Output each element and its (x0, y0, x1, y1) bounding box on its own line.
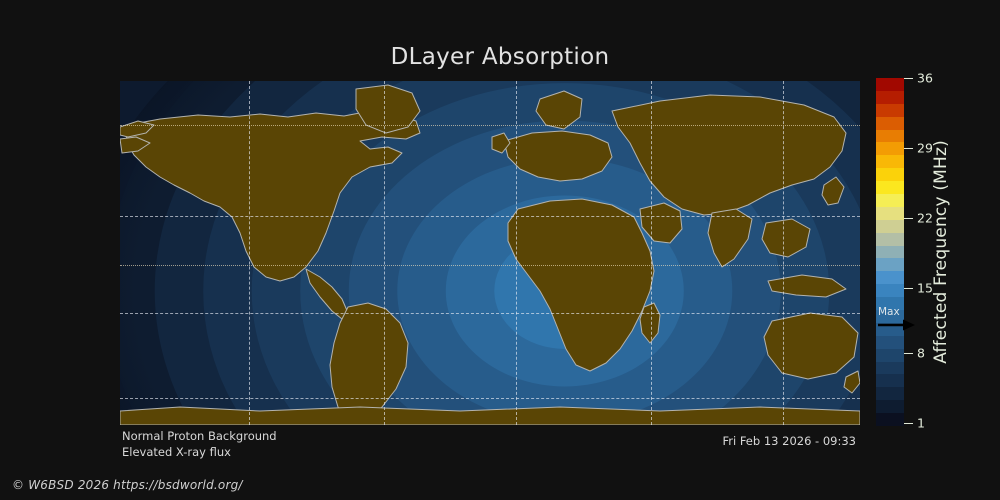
colorbar-band-16 (876, 207, 904, 220)
colorbar-tick-22 (904, 218, 913, 219)
colorbar-axis-label: Affected Frequency (MHz) (929, 78, 953, 426)
colorbar-band-6 (876, 336, 904, 349)
landmass-north-america (126, 111, 420, 281)
colorbar-band-25 (876, 91, 904, 104)
colorbar-band-4 (876, 362, 904, 375)
colorbar-band-0 (876, 413, 904, 426)
colorbar-tick-36 (904, 78, 913, 79)
landmass-madagascar (640, 303, 660, 343)
landmass-japan (822, 177, 844, 205)
colorbar-tick-label-8: 8 (917, 346, 925, 361)
landmass-new-zealand (844, 371, 860, 393)
colorbar[interactable] (876, 78, 904, 426)
colorbar-band-5 (876, 349, 904, 362)
colorbar-band-9 (876, 297, 904, 310)
colorbar-band-12 (876, 258, 904, 271)
landmass-africa (508, 199, 654, 371)
colorbar-axis-label-text: Affected Frequency (MHz) (931, 140, 951, 364)
colorbar-band-23 (876, 117, 904, 130)
gridline-parallel-0 (120, 125, 860, 126)
colorbar-band-17 (876, 194, 904, 207)
gridline-meridian-0 (249, 81, 250, 425)
landmass-australia (764, 313, 858, 379)
copyright-footer: © W6BSD 2026 https://bsdworld.org/ (12, 478, 243, 492)
colorbar-band-2 (876, 387, 904, 400)
gridline-meridian-3 (651, 81, 652, 425)
colorbar-band-26 (876, 78, 904, 91)
colorbar-tick-29 (904, 148, 913, 149)
colorbar-tick-15 (904, 288, 913, 289)
colorbar-gradient (876, 78, 904, 426)
page-title: DLayer Absorption (0, 44, 1000, 70)
colorbar-band-7 (876, 323, 904, 336)
colorbar-band-24 (876, 104, 904, 117)
colorbar-tick-1 (904, 423, 913, 424)
landmass-scandinavia (536, 91, 582, 129)
colorbar-tick-8 (904, 353, 913, 354)
status-text: Normal Proton Background Elevated X-ray … (122, 429, 277, 460)
gridline-parallel-2 (120, 265, 860, 266)
landmass-central-america (306, 269, 348, 319)
continents-layer (120, 81, 860, 425)
colorbar-band-21 (876, 142, 904, 155)
landmass-southeast-asia (762, 219, 810, 257)
colorbar-band-3 (876, 374, 904, 387)
colorbar-band-14 (876, 233, 904, 246)
status-line-1: Normal Proton Background (122, 429, 277, 445)
landmass-india (708, 209, 752, 267)
colorbar-band-20 (876, 155, 904, 168)
landmass-indonesia (768, 275, 846, 297)
colorbar-band-8 (876, 310, 904, 323)
colorbar-band-11 (876, 271, 904, 284)
status-line-2: Elevated X-ray flux (122, 445, 277, 461)
landmass-arabia (640, 203, 682, 243)
colorbar-tick-label-1: 1 (917, 416, 925, 431)
landmass-europe (504, 131, 612, 181)
landmass-asia (612, 95, 846, 215)
colorbar-band-1 (876, 400, 904, 413)
colorbar-band-19 (876, 168, 904, 181)
landmass-antarctica (120, 407, 860, 425)
timestamp: Fri Feb 13 2026 - 09:33 (722, 434, 856, 448)
colorbar-band-22 (876, 130, 904, 143)
gridline-meridian-2 (516, 81, 517, 425)
landmass-south-america (330, 303, 408, 425)
colorbar-band-13 (876, 246, 904, 259)
gridline-meridian-1 (384, 81, 385, 425)
colorbar-band-18 (876, 181, 904, 194)
gridline-parallel-3 (120, 313, 860, 314)
gridline-meridian-4 (783, 81, 784, 425)
map-plot-area[interactable] (120, 81, 860, 425)
gridline-parallel-4 (120, 398, 860, 399)
colorbar-band-10 (876, 284, 904, 297)
gridline-parallel-1 (120, 216, 860, 217)
colorbar-band-15 (876, 220, 904, 233)
